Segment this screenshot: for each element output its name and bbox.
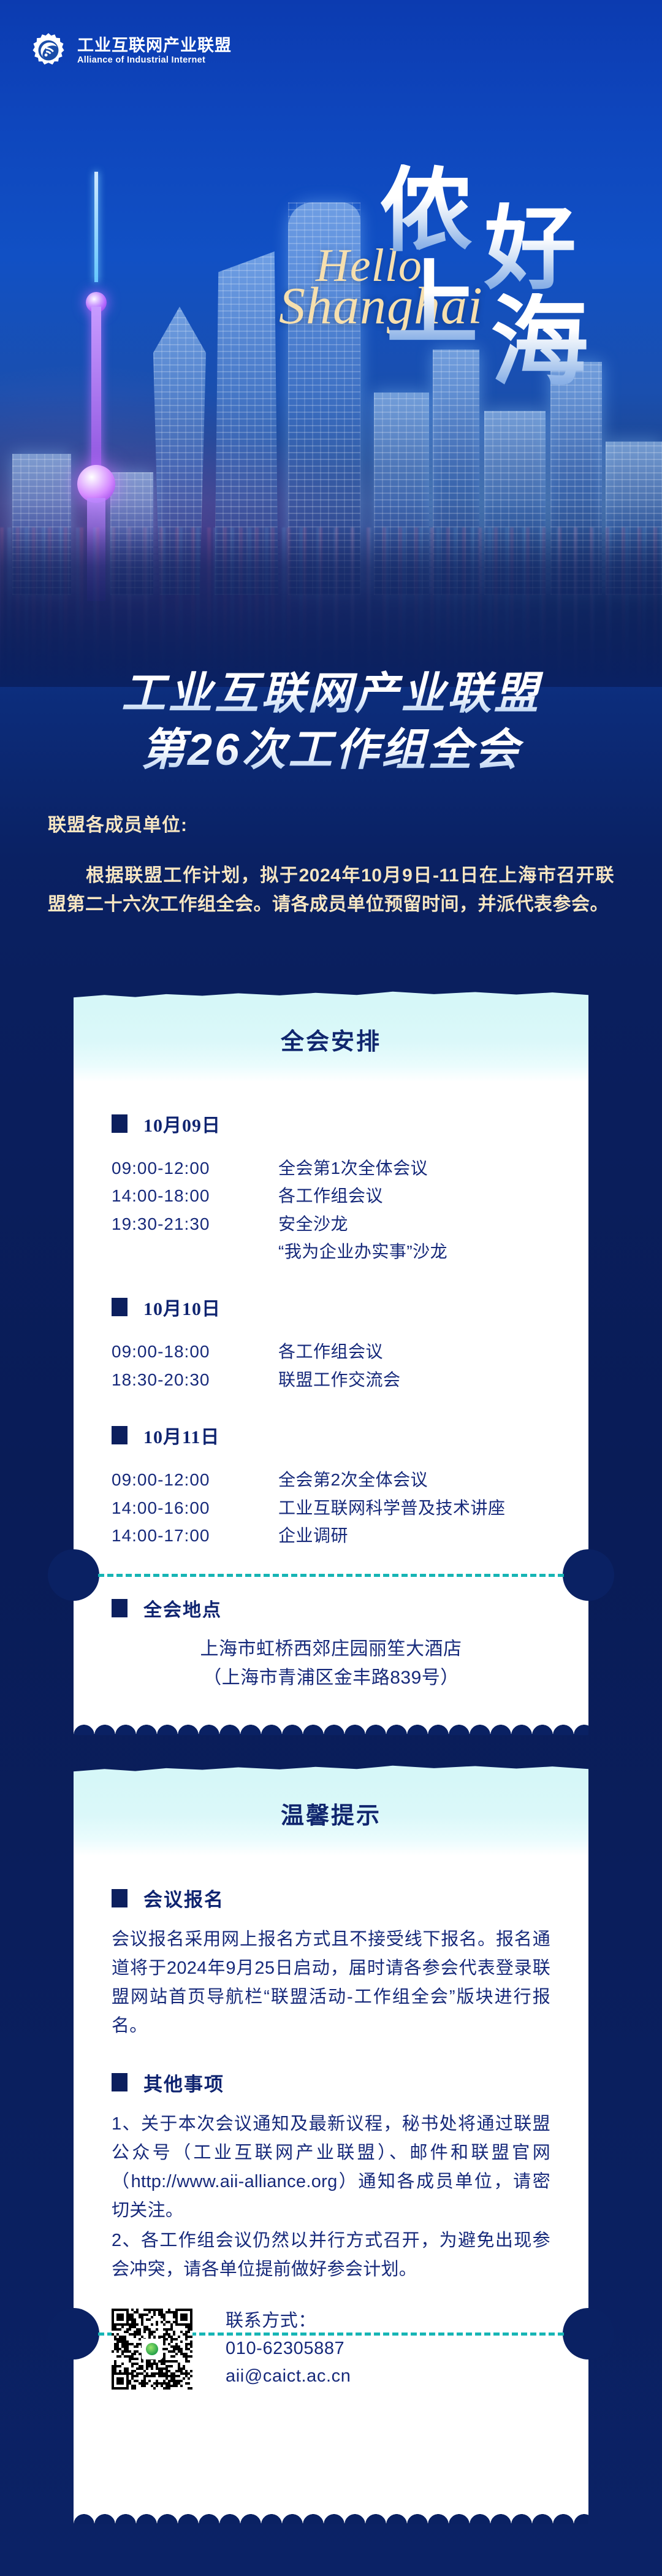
gear-wifi-logo-icon [29,32,67,70]
schedule-slot: 18:30-20:30 联盟工作交流会 [112,1366,550,1393]
tips-paragraph: 1、关于本次会议通知及最新议程，秘书处将通过联盟公众号（工业互联网产业联盟）、邮… [112,2110,550,2225]
tips-ticket-card: 温馨提示 会议报名 会议报名采用网上报名方式且不接受线下报名。报名通道将于202… [74,1779,588,2524]
venue-title: 全会地点 [143,1595,222,1622]
hero-char-ni: 侬 [380,164,473,256]
tips-section-title: 会议报名 [143,1884,224,1912]
slot-time: 14:00-16:00 [112,1494,262,1522]
hero-photo: Hello Shanghai 侬 好 上 海 [0,0,662,687]
tips-section-header: 会议报名 [112,1884,550,1912]
bullet-square-icon [112,1599,127,1617]
card-scallop-bottom-decoration [74,2506,588,2524]
slot-name: 全会第1次全体会议 [278,1154,428,1182]
bullet-square-icon [112,1114,127,1133]
schedule-day-header: 10月11日 [112,1422,550,1449]
tips-section-title: 其他事项 [143,2069,224,2096]
tips-paragraph: 会议报名采用网上报名方式且不接受线下报名。报名通道将于2024年9月25日启动，… [112,1925,550,2041]
slot-name: 各工作组会议 [278,1338,383,1365]
slot-name: 联盟工作交流会 [278,1366,401,1393]
logo-name-cn: 工业互联网产业联盟 [77,37,232,54]
schedule-slot: 14:00-16:00 工业互联网科学普及技术讲座 [112,1494,550,1522]
tips-card-header: 温馨提示 [74,1779,588,1856]
slot-time: 09:00-12:00 [112,1466,262,1493]
tips-body: 会议报名 会议报名采用网上报名方式且不接受线下报名。报名通道将于2024年9月2… [74,1884,588,2284]
intro-block: 联盟各成员单位: 根据联盟工作计划，拟于2024年10月9日-11日在上海市召开… [48,810,614,919]
slot-name: 安全沙龙 [278,1210,348,1238]
bullet-square-icon [112,1426,127,1444]
intro-body: 根据联盟工作计划，拟于2024年10月9日-11日在上海市召开联盟第二十六次工作… [48,861,614,919]
tips-card-title: 温馨提示 [281,1796,381,1830]
schedule-day-header: 10月10日 [112,1294,550,1321]
schedule-day-date: 10月10日 [143,1294,221,1321]
slot-time: 09:00-18:00 [112,1338,262,1365]
intro-salutation: 联盟各成员单位: [48,810,614,837]
contact-block: 联系方式： 010-62305887 aii@caict.ac.cn [74,2284,588,2390]
ticket-notch-left [48,1549,99,1601]
bullet-square-icon [112,2073,127,2091]
schedule-ticket-card: 全会安排 10月09日 09:00-12:00 全会第1次全体会议 14:00-… [74,1005,588,1735]
schedule-slot: 09:00-12:00 全会第1次全体会议 [112,1154,550,1182]
venue-header: 全会地点 [112,1595,550,1622]
schedule-day-date: 10月11日 [143,1422,219,1449]
bullet-square-icon [112,1889,127,1907]
alliance-logo: 工业互联网产业联盟 Alliance of Industrial Interne… [29,32,232,70]
slot-time: 09:00-12:00 [112,1154,262,1182]
hero-char-hao: 好 [484,202,577,294]
slot-name: 各工作组会议 [278,1182,383,1209]
slot-time: 18:30-20:30 [112,1366,262,1393]
contact-label: 联系方式： [226,2309,351,2334]
contact-email[interactable]: aii@caict.ac.cn [226,2364,351,2389]
schedule-day-date: 10月09日 [143,1110,221,1137]
schedule-slot: 19:30-21:30 安全沙龙 [112,1210,550,1238]
venue-block: 全会地点 上海市虹桥西郊庄园丽笙大酒店 （上海市青浦区金丰路839号） [74,1549,588,1693]
ticket-notch-right [563,1549,614,1601]
venue-address-line-1: 上海市虹桥西郊庄园丽笙大酒店 [112,1635,550,1664]
venue-address-line-2: （上海市青浦区金丰路839号） [112,1664,550,1693]
schedule-slot: 09:00-18:00 各工作组会议 [112,1338,550,1365]
qr-center-logo-icon [142,2339,162,2359]
schedule-slot: 14:00-18:00 各工作组会议 [112,1182,550,1209]
ticket-dashed-divider [98,1574,564,1577]
page-title-line-1: 工业互联网产业联盟 [0,665,662,722]
poster-root: Hello Shanghai 侬 好 上 海 工业互联网产业联盟 Allianc… [0,0,662,2576]
schedule-card-title: 全会安排 [281,1022,381,1056]
schedule-card-header: 全会安排 [74,1005,588,1082]
schedule-body: 10月09日 09:00-12:00 全会第1次全体会议 14:00-18:00… [74,1110,588,1549]
logo-name-en: Alliance of Industrial Internet [77,56,232,65]
tips-section-header: 其他事项 [112,2069,550,2096]
logo-text-block: 工业互联网产业联盟 Alliance of Industrial Interne… [77,37,232,66]
ticket-notch-right [563,2308,614,2359]
schedule-slot: 09:00-12:00 全会第2次全体会议 [112,1466,550,1493]
ticket-notch-left [48,2308,99,2359]
slot-name: 企业调研 [278,1522,348,1549]
schedule-slot: 14:00-17:00 企业调研 [112,1522,550,1549]
bullet-square-icon [112,1298,127,1316]
tips-paragraph: 2、各工作组会议仍然以并行方式召开，为避免出现参会冲突，请各单位提前做好参会计划… [112,2226,550,2284]
qr-code[interactable] [112,2309,192,2390]
contact-phone[interactable]: 010-62305887 [226,2336,351,2361]
slot-time: 14:00-18:00 [112,1182,262,1209]
hero-char-shang: 上 [386,258,479,350]
hero-char-hai: 海 [490,293,590,391]
hero-fade-overlay [0,503,662,687]
slot-time: 19:30-21:30 [112,1210,262,1238]
page-title-line-2: 第26次工作组全会 [0,722,662,778]
slot-time: 14:00-17:00 [112,1522,262,1549]
slot-name: 工业互联网科学普及技术讲座 [278,1494,506,1522]
slot-name: 全会第2次全体会议 [278,1466,428,1493]
schedule-day-header: 10月09日 [112,1110,550,1137]
page-title: 工业互联网产业联盟 第26次工作组全会 [0,665,662,778]
slot-subname: “我为企业办实事”沙龙 [278,1238,550,1265]
contact-details: 联系方式： 010-62305887 aii@caict.ac.cn [226,2309,351,2390]
card-scallop-bottom-decoration [74,1717,588,1735]
